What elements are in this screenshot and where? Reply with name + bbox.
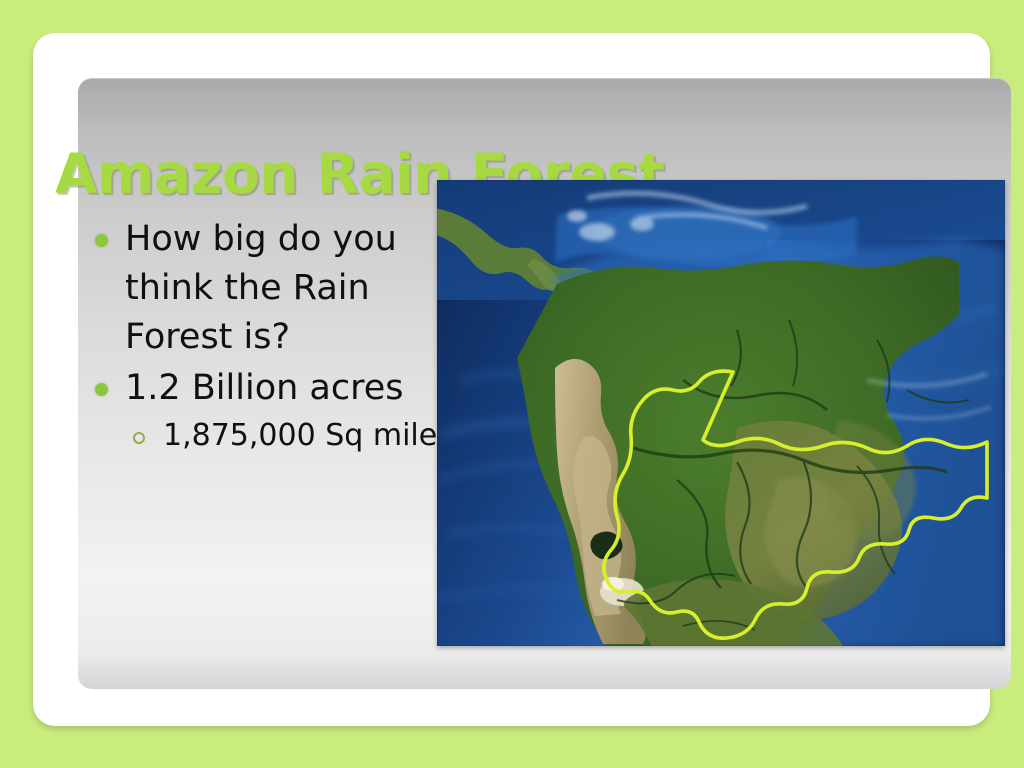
- list-item-text: 1,875,000 Sq miles: [163, 418, 453, 453]
- bullet-ring-icon: [133, 432, 145, 444]
- list-item: 1,875,000 Sq miles: [83, 415, 473, 457]
- bullet-dot-icon: [95, 234, 108, 247]
- bullet-dot-icon: [95, 383, 108, 396]
- south-america-satellite-map: [437, 180, 1005, 646]
- list-item-text: How big do you think the Rain Forest is?: [125, 219, 397, 357]
- list-item: How big do you think the Rain Forest is?: [83, 215, 473, 362]
- map-graphic: [437, 180, 1005, 646]
- list-item: 1.2 Billion acres: [83, 364, 473, 413]
- slide-frame: Amazon Rain Forest How big do you think …: [33, 33, 990, 726]
- list-item-text: 1.2 Billion acres: [125, 368, 404, 408]
- bullet-list: How big do you think the Rain Forest is?…: [83, 215, 473, 459]
